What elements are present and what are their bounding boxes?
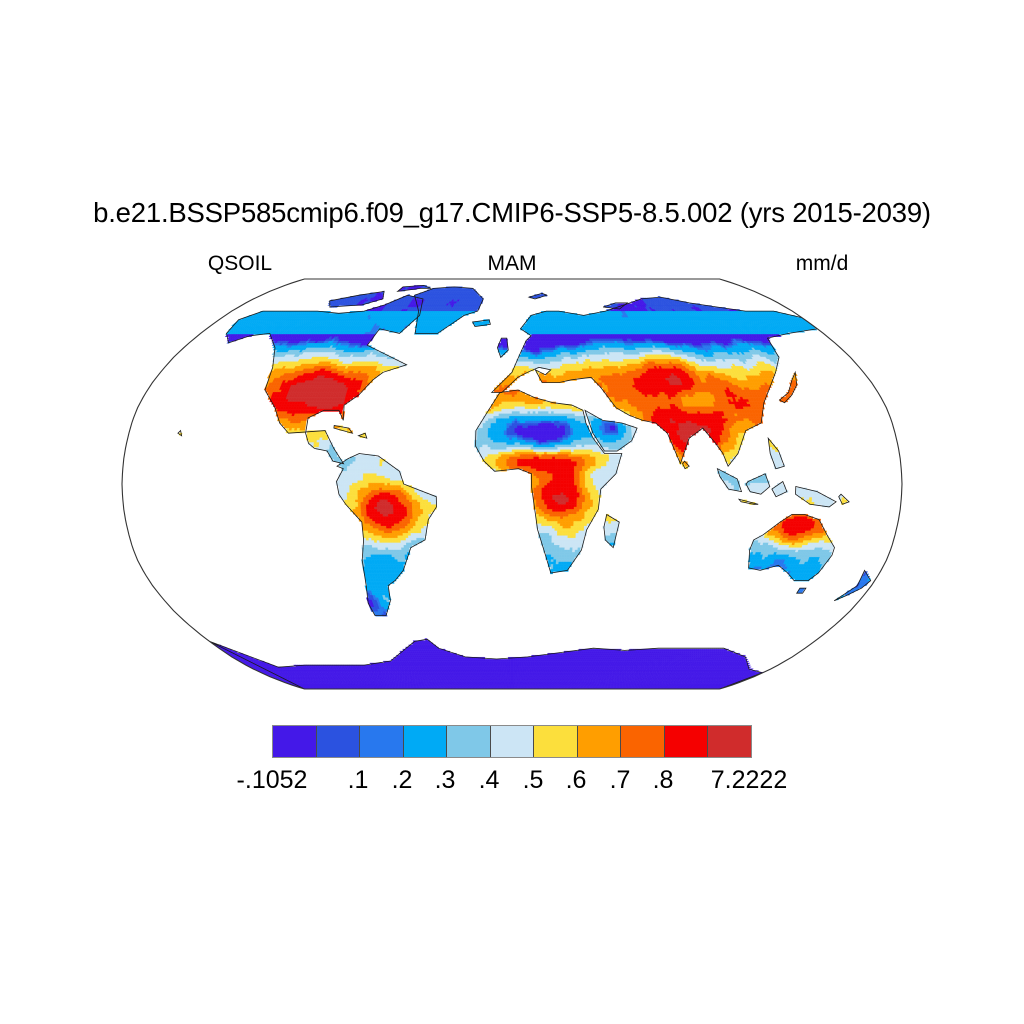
colorbar-swatch-9[interactable] xyxy=(665,726,709,757)
colorbar-label-7: .7 xyxy=(610,764,631,796)
colorbar-swatch-2[interactable] xyxy=(360,726,404,757)
map-canvas[interactable] xyxy=(112,274,912,694)
colorbar-label-8: .8 xyxy=(653,764,674,796)
colorbar-swatch-10[interactable] xyxy=(708,726,751,757)
map-data-layer xyxy=(179,285,871,689)
colorbar-swatch-4[interactable] xyxy=(447,726,491,757)
map-boundary-outline xyxy=(122,279,902,689)
colorbar-tick-labels: -.1052.1.2.3.4.5.6.7.87.2222 xyxy=(132,764,892,796)
colorbar-label-6: .6 xyxy=(566,764,587,796)
colorbar-label-0: -.1052 xyxy=(237,764,308,796)
colorbar-label-2: .2 xyxy=(392,764,413,796)
colorbar-label-9: 7.2222 xyxy=(711,764,787,796)
colorbar-swatch-3[interactable] xyxy=(404,726,448,757)
climate-figure: b.e21.BSSP585cmip6.f09_g17.CMIP6-SSP5-8.… xyxy=(0,0,1024,1024)
world-map[interactable] xyxy=(112,274,912,694)
page-title: b.e21.BSSP585cmip6.f09_g17.CMIP6-SSP5-8.… xyxy=(0,196,1024,230)
colorbar-label-3: .3 xyxy=(435,764,456,796)
colorbar-swatch-0[interactable] xyxy=(273,726,317,757)
colorbar-swatch-6[interactable] xyxy=(534,726,578,757)
colorbar-label-1: .1 xyxy=(348,764,369,796)
colorbar-swatch-5[interactable] xyxy=(491,726,535,757)
colorbar-label-5: .5 xyxy=(523,764,544,796)
colorbar-label-4: .4 xyxy=(479,764,500,796)
colorbar-swatch-7[interactable] xyxy=(578,726,622,757)
colorbar-swatch-1[interactable] xyxy=(317,726,361,757)
colorbar[interactable] xyxy=(272,725,752,758)
colorbar-swatch-8[interactable] xyxy=(621,726,665,757)
